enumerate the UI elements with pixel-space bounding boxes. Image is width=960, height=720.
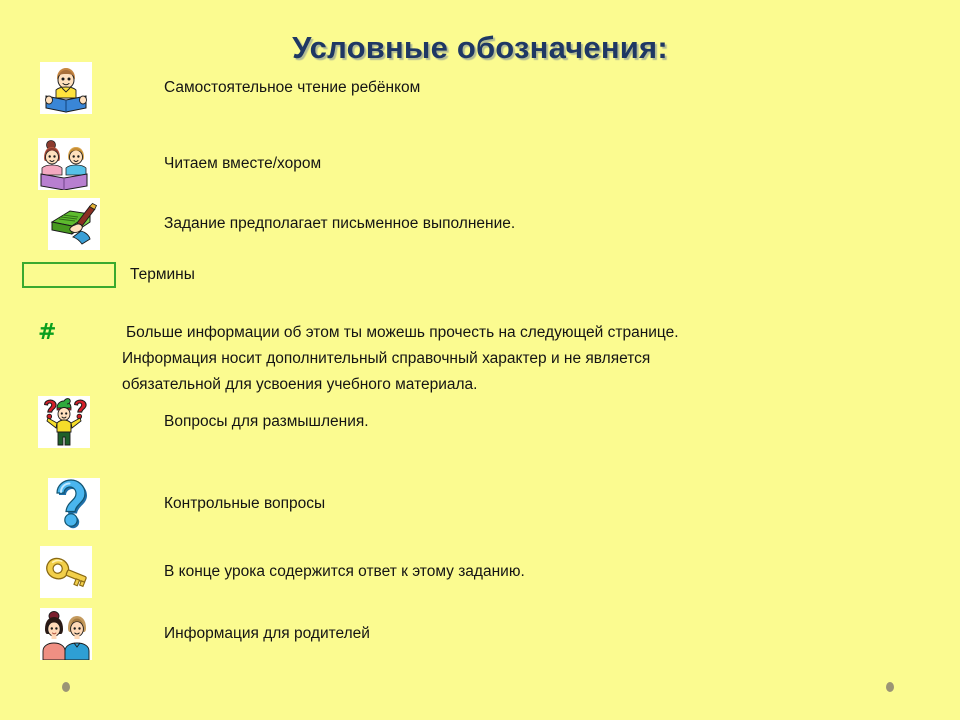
decorative-dot-left — [62, 682, 70, 692]
legend-row-control-questions: Контрольные вопросы — [48, 478, 325, 530]
legend-label-thinking-questions: Вопросы для размышления. — [164, 411, 369, 433]
extra-info-line-3: обязательной для усвоения учебного матер… — [122, 372, 922, 398]
parents-couple-icon — [40, 608, 92, 660]
notebook-pencil-icon — [48, 198, 100, 250]
decorative-dot-right — [886, 682, 894, 692]
page-title: Условные обозначения: — [0, 30, 960, 66]
hash-icon: # — [38, 322, 68, 344]
legend-row-terms: Термины — [22, 262, 195, 288]
golden-key-icon — [40, 546, 92, 598]
legend-row-thinking-questions: Вопросы для размышления. — [38, 396, 369, 448]
two-children-reading-icon — [38, 138, 90, 190]
green-box-icon — [22, 262, 116, 288]
legend-row-read-together: Читаем вместе/хором — [38, 138, 321, 190]
extra-info-paragraph: Больше информации об этом ты можешь проч… — [122, 320, 922, 398]
legend-label-written-task: Задание предполагает письменное выполнен… — [164, 213, 515, 235]
legend-label-terms: Термины — [130, 264, 195, 286]
legend-row-parents-info: Информация для родителей — [40, 608, 370, 660]
blue-question-mark-icon — [48, 478, 100, 530]
legend-label-read-together: Читаем вместе/хором — [164, 153, 321, 175]
legend-row-written-task: Задание предполагает письменное выполнен… — [48, 198, 515, 250]
legend-label-answer-key: В конце урока содержится ответ к этому з… — [164, 561, 525, 583]
legend-row-extra-info: # — [38, 322, 68, 344]
legend-row-answer-key: В конце урока содержится ответ к этому з… — [40, 546, 525, 598]
extra-info-line-2: Информация носит дополнительный справочн… — [122, 346, 922, 372]
legend-row-self-reading: Самостоятельное чтение ребёнком — [40, 62, 420, 114]
jester-question-marks-icon — [38, 396, 90, 448]
slide-canvas: Условные обозначения: — [0, 0, 960, 720]
child-reading-book-icon — [40, 62, 92, 114]
legend-label-control-questions: Контрольные вопросы — [164, 493, 325, 515]
legend-label-self-reading: Самостоятельное чтение ребёнком — [164, 77, 420, 99]
legend-label-parents-info: Информация для родителей — [164, 623, 370, 645]
extra-info-line-1: Больше информации об этом ты можешь проч… — [122, 320, 922, 346]
